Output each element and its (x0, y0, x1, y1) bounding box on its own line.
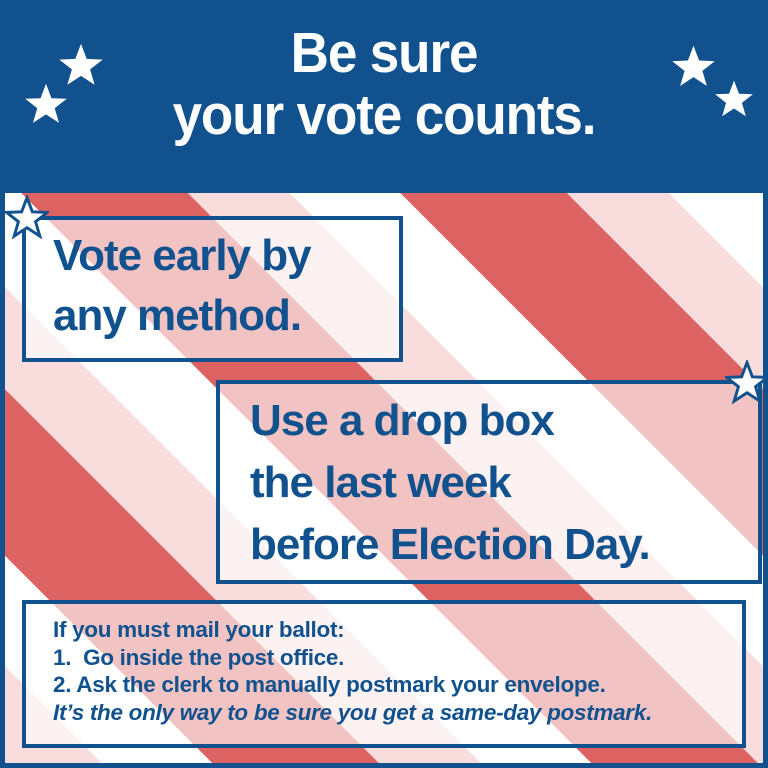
outline-star-top-left (5, 195, 49, 240)
mail-ballot-step-2: 2. Ask the clerk to manually postmark yo… (53, 671, 652, 699)
headline-line-1: Be sure (27, 22, 741, 84)
mail-ballot-note: It’s the only way to be sure you get a s… (53, 699, 652, 727)
mail-ballot-heading: If you must mail your ballot: (53, 616, 652, 644)
header-banner: Be sure your vote counts. (0, 0, 768, 188)
vote-early-line-2: any method. (53, 286, 311, 346)
panel-vote-early: Vote early by any method. (22, 216, 403, 362)
drop-box-line-2: the last week (250, 452, 650, 514)
mail-ballot-step-1: 1. Go inside the post office. (53, 644, 652, 672)
panel-drop-box: Use a drop box the last week before Elec… (216, 380, 762, 584)
vote-early-line-1: Vote early by (53, 226, 311, 286)
panel-mail-ballot: If you must mail your ballot: 1. Go insi… (22, 600, 746, 748)
panel-vote-early-text: Vote early by any method. (53, 226, 311, 346)
drop-box-line-1: Use a drop box (250, 390, 650, 452)
outline-star-drop-box-corner (725, 360, 768, 405)
panel-mail-ballot-text: If you must mail your ballot: 1. Go insi… (53, 616, 652, 726)
page-title: Be sure your vote counts. (27, 22, 741, 146)
drop-box-line-3: before Election Day. (250, 514, 650, 576)
headline-line-2: your vote counts. (27, 84, 741, 146)
poster-canvas: Be sure your vote counts. Vote early by … (0, 0, 768, 768)
panel-drop-box-text: Use a drop box the last week before Elec… (250, 390, 650, 576)
